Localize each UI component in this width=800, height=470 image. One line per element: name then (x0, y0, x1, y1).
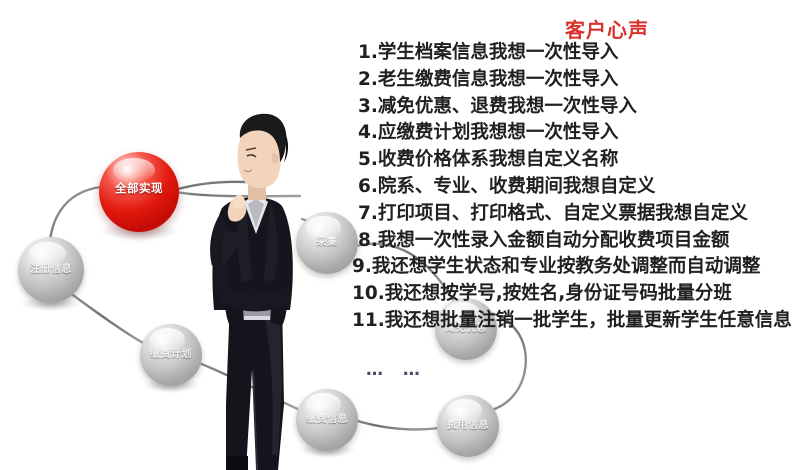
requirement-item: 1.学生档案信息我想一次性导入 (352, 40, 782, 67)
node-label: 缴费信息 (306, 410, 348, 425)
slide-canvas: 客户心声 (0, 0, 800, 470)
node-payment-info[interactable]: 缴费信息 (296, 389, 358, 451)
requirement-item: 10.我还想按学号,按姓名,身份证号码批量分班 (352, 281, 782, 308)
ellipsis-text: … … (366, 360, 427, 380)
requirements-list: 1.学生档案信息我想一次性导入 2.老生缴费信息我想一次性导入 3.减免优惠、退… (352, 40, 782, 335)
requirement-item: 6.院系、专业、收费期间我想自定义 (352, 174, 782, 201)
node-collection[interactable]: 采集 (296, 212, 358, 274)
node-label: 采集 (317, 233, 338, 248)
node-register-info[interactable]: 注册信息 (18, 237, 84, 303)
requirement-item: 11.我还想批量注销一批学生，批量更新学生任意信息 (352, 308, 782, 335)
node-label: 缴费计划 (150, 345, 192, 360)
node-fee-info[interactable]: 费用信息 (437, 395, 499, 457)
node-payment-plan[interactable]: 缴费计划 (140, 324, 202, 386)
requirement-item: 7.打印项目、打印格式、自定义票据我想自定义 (352, 201, 782, 228)
node-label: 注册信息 (30, 260, 72, 275)
page-title: 客户心声 (565, 14, 649, 43)
node-label: 费用信息 (447, 416, 489, 431)
requirement-item: 4.应缴费计划我想想一次性导入 (352, 120, 782, 147)
requirement-item: 5.收费价格体系我想自定义名称 (352, 147, 782, 174)
requirement-item: 8.我想一次性录入金额自动分配收费项目金额 (352, 228, 782, 255)
requirement-item: 9.我还想学生状态和专业按教务处调整而自动调整 (352, 254, 782, 281)
requirement-item: 2.老生缴费信息我想一次性导入 (352, 67, 782, 94)
requirement-item: 3.减免优惠、退费我想一次性导入 (352, 94, 782, 121)
node-label: 全部实现 (115, 180, 163, 196)
node-all-realized[interactable]: 全部实现 (99, 152, 179, 232)
